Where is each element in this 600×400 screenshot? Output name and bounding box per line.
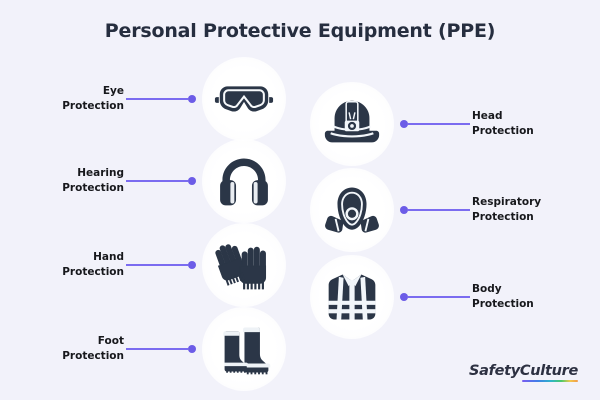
ppe-item-label-line1: Head [472,110,503,122]
ppe-item-body-protection: Body Protection [310,252,588,342]
logo-underline-gradient [522,380,578,383]
ppe-item-label-line1: Foot [98,335,124,347]
ppe-item-label: Respiratory Protection [472,195,576,225]
ppe-item-label-line1: Body [472,283,502,295]
ppe-item-foot-protection: Foot Protection [20,304,290,394]
ppe-item-hearing-protection: Hearing Protection [20,136,290,226]
safety-vest-icon [322,267,382,327]
ppe-item-label-line2: Protection [62,100,124,112]
connector-dot [400,206,408,214]
connector [124,93,196,105]
respirator-mask-icon [322,180,382,240]
connector [124,343,196,355]
ppe-item-label-line2: Protection [62,182,124,194]
ppe-item-label-line2: Protection [62,350,124,362]
ppe-item-label-line2: Protection [472,211,534,223]
ppe-icon-medallion [310,255,394,339]
connector-dot [188,177,196,185]
ppe-icon-medallion [202,223,286,307]
connector-dot [188,95,196,103]
ppe-icon-medallion [310,168,394,252]
connector [124,259,196,271]
connector [124,175,196,187]
ppe-icon-medallion [310,82,394,166]
ppe-item-respiratory-protection: Respiratory Protection [310,165,588,255]
connector [400,291,472,303]
hard-hat-icon [321,93,383,155]
connector-line [126,98,188,100]
ppe-item-label-line2: Protection [472,125,534,137]
connector-dot [400,293,408,301]
ppe-item-hand-protection: Hand Protection [20,220,290,310]
ppe-item-label-line1: Respiratory [472,196,541,208]
ppe-item-label-line1: Eye [103,85,124,97]
ppe-icon-medallion [202,57,286,141]
ppe-item-label: Foot Protection [20,334,124,364]
ppe-item-label: Hand Protection [20,250,124,280]
connector-line [408,296,470,298]
connector-dot [400,120,408,128]
ppe-item-label: Eye Protection [20,84,124,114]
ppe-item-head-protection: Head Protection [310,79,588,169]
ppe-item-label-line2: Protection [472,298,534,310]
connector-dot [188,345,196,353]
ppe-icon-medallion [202,307,286,391]
ppe-item-eye-protection: Eye Protection [20,54,290,144]
page-title: Personal Protective Equipment (PPE) [0,20,600,42]
connector-line [408,123,470,125]
ear-defenders-icon [214,151,274,211]
connector-line [126,264,188,266]
connector-line [408,209,470,211]
safety-goggles-icon [213,68,275,130]
ppe-item-label: Head Protection [472,109,576,139]
ppe-item-label: Hearing Protection [20,166,124,196]
connector [400,118,472,130]
connector-line [126,348,188,350]
ppe-icon-medallion [202,139,286,223]
ppe-item-label-line1: Hearing [77,167,124,179]
ppe-item-label-line2: Protection [62,266,124,278]
ppe-item-label: Body Protection [472,282,576,312]
safetyculture-logo: SafetyCulture [469,363,578,383]
ppe-item-label-line1: Hand [93,251,124,263]
logo-text: SafetyCulture [469,363,578,379]
safety-gloves-icon [214,235,274,295]
safety-boots-icon [214,319,274,379]
connector-line [126,180,188,182]
connector [400,204,472,216]
ppe-infographic: Personal Protective Equipment (PPE) Eye … [0,0,600,400]
connector-dot [188,261,196,269]
